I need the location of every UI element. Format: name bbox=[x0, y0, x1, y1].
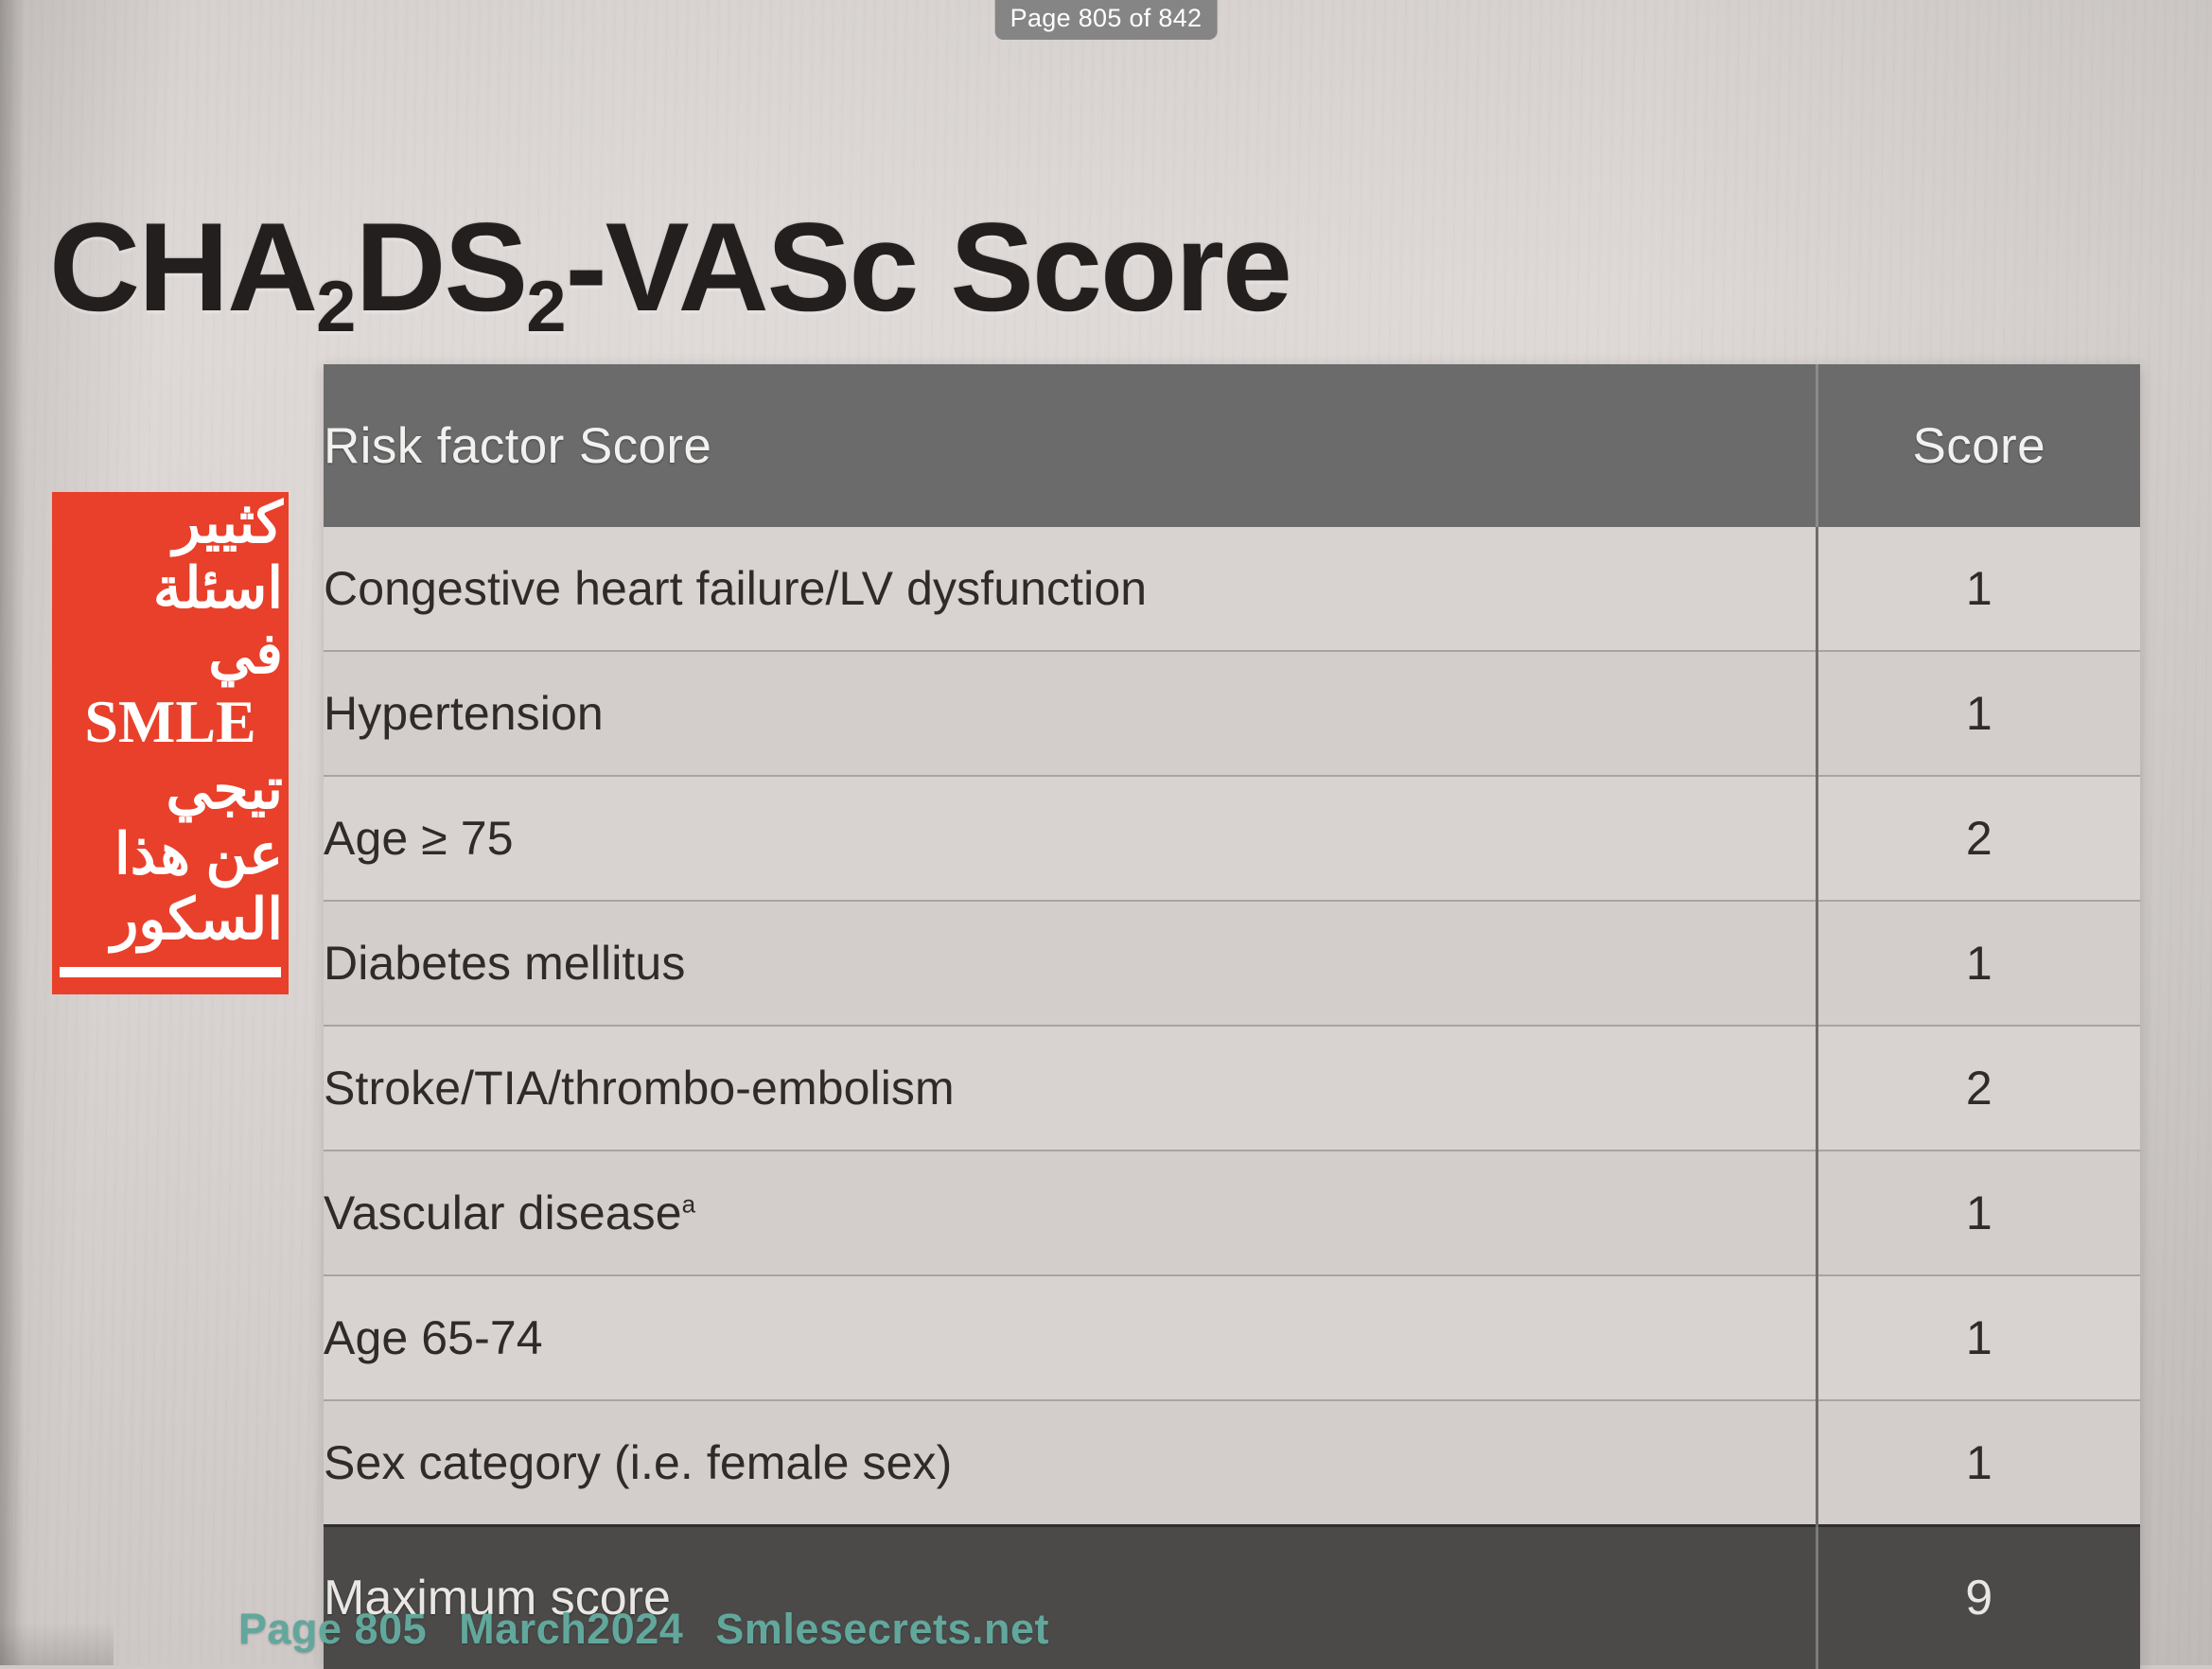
page-indicator-badge: Page 805 of 842 bbox=[995, 0, 1218, 40]
table-row: Age 65-741 bbox=[324, 1275, 2140, 1400]
overlay-line-6: السكور bbox=[52, 888, 289, 954]
title-part-ds: DS bbox=[355, 198, 526, 338]
overlay-line-2: اسئلة bbox=[52, 557, 289, 623]
risk-factor-label: Vascular diseasea bbox=[324, 1151, 1817, 1275]
column-header-score: Score bbox=[1817, 364, 2140, 527]
overlay-line-3: في bbox=[52, 623, 289, 688]
column-header-risk-factor: Risk factor Score bbox=[324, 364, 1817, 527]
overlay-underline-bar bbox=[52, 954, 289, 994]
risk-factor-label: Age 65-74 bbox=[324, 1275, 1817, 1400]
overlay-line-5: عن هذا bbox=[52, 823, 289, 888]
overlay-brand-smle: SMLE bbox=[52, 689, 289, 758]
risk-factor-label: Hypertension bbox=[324, 651, 1817, 776]
risk-factor-score: 1 bbox=[1817, 651, 2140, 776]
table-row: Vascular diseasea1 bbox=[324, 1151, 2140, 1275]
risk-factor-score: 1 bbox=[1817, 901, 2140, 1026]
risk-factor-label: Sex category (i.e. female sex) bbox=[324, 1400, 1817, 1526]
overlay-line-1: كثيير bbox=[52, 492, 289, 557]
risk-factor-label: Congestive heart failure/LV dysfunction bbox=[324, 527, 1817, 651]
risk-factor-label: Diabetes mellitus bbox=[324, 901, 1817, 1026]
footnote-marker: a bbox=[682, 1189, 696, 1218]
overlay-line-4: تيجي bbox=[52, 758, 289, 823]
risk-factor-score: 1 bbox=[1817, 1275, 2140, 1400]
title-subscript-2: 2 bbox=[526, 267, 565, 347]
risk-factor-score: 2 bbox=[1817, 776, 2140, 901]
table-row: Age ≥ 752 bbox=[324, 776, 2140, 901]
risk-factor-label: Age ≥ 75 bbox=[324, 776, 1817, 901]
title-subscript-1: 2 bbox=[316, 267, 355, 347]
maximum-score-value: 9 bbox=[1817, 1526, 2140, 1669]
site-footer: Page 805March2024Smlesecrets.net bbox=[238, 1605, 1049, 1654]
table-row: Sex category (i.e. female sex)1 bbox=[324, 1400, 2140, 1526]
footer-page-number: Page 805 bbox=[238, 1605, 427, 1653]
table-row: Stroke/TIA/thrombo-embolism2 bbox=[324, 1026, 2140, 1151]
table-row: Hypertension1 bbox=[324, 651, 2140, 776]
risk-factor-label: Stroke/TIA/thrombo-embolism bbox=[324, 1026, 1817, 1151]
table-row: Diabetes mellitus1 bbox=[324, 901, 2140, 1026]
page-title: CHA2DS2-VASc Score bbox=[49, 196, 1290, 340]
table-body: Congestive heart failure/LV dysfunction1… bbox=[324, 527, 2140, 1526]
risk-factor-score: 1 bbox=[1817, 527, 2140, 651]
smle-annotation-overlay: كثييراسئلةفيSMLEتيجيعن هذاالسكور bbox=[52, 492, 289, 994]
title-part-vasc: -VASc Score bbox=[565, 198, 1290, 338]
title-part-cha: CHA bbox=[49, 198, 316, 338]
cha2ds2-vasc-score-table: Risk factor Score Score Congestive heart… bbox=[324, 364, 2140, 1669]
footer-site-url[interactable]: Smlesecrets.net bbox=[715, 1605, 1049, 1653]
risk-factor-score: 1 bbox=[1817, 1151, 2140, 1275]
risk-factor-score: 1 bbox=[1817, 1400, 2140, 1526]
footer-date: March2024 bbox=[459, 1605, 683, 1653]
table-header-row: Risk factor Score Score bbox=[324, 364, 2140, 527]
risk-factor-score: 2 bbox=[1817, 1026, 2140, 1151]
table-row: Congestive heart failure/LV dysfunction1 bbox=[324, 527, 2140, 651]
